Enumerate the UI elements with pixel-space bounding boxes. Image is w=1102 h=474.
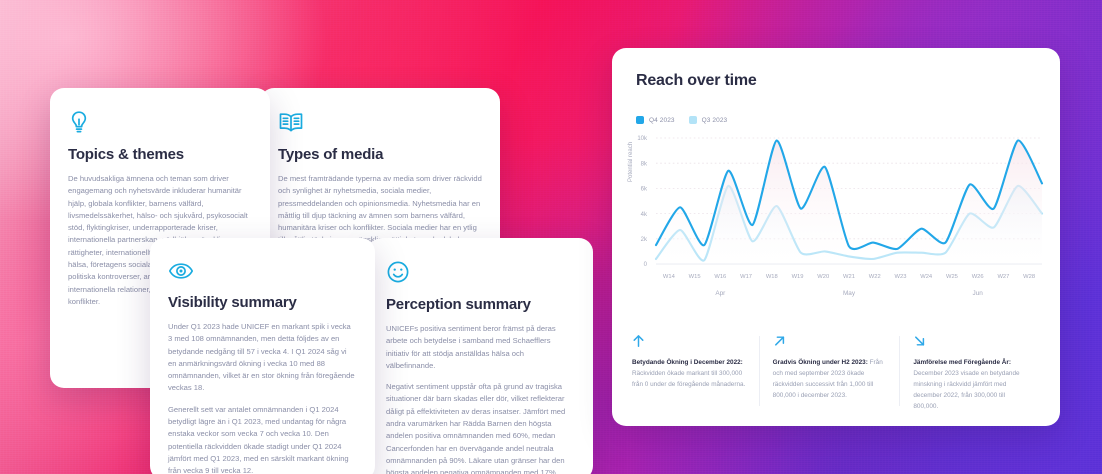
chart-legend: Q4 2023Q3 2023 xyxy=(612,90,1060,124)
legend-label: Q4 2023 xyxy=(649,117,675,124)
legend-item[interactable]: Q3 2023 xyxy=(689,116,728,124)
smiley-icon xyxy=(386,260,575,284)
legend-label: Q3 2023 xyxy=(702,117,728,124)
insight-item: Gradvis Ökning under H2 2023: Från och m… xyxy=(759,334,900,412)
x-axis-month-label: Apr xyxy=(715,290,726,297)
x-axis-tick-label: W15 xyxy=(689,274,701,280)
x-axis-tick-label: W20 xyxy=(817,274,829,280)
arrow-up-right-icon xyxy=(773,334,888,348)
x-axis-tick-label: W26 xyxy=(972,274,984,280)
eye-icon xyxy=(168,260,357,282)
x-axis-tick-label: W17 xyxy=(740,274,752,280)
card-title: Types of media xyxy=(278,146,482,163)
insight-text: Gradvis Ökning under H2 2023: Från och m… xyxy=(773,357,888,401)
x-axis-tick-label: W23 xyxy=(895,274,907,280)
x-axis-tick-label: W16 xyxy=(714,274,726,280)
card-body-paragraph-2: Generellt sett var antalet omnämnanden i… xyxy=(168,404,357,474)
book-icon xyxy=(278,110,482,134)
x-axis-tick-label: W21 xyxy=(843,274,855,280)
x-axis-tick-label: W22 xyxy=(869,274,881,280)
card-reach-over-time: Reach over time Q4 2023Q3 2023 Potential… xyxy=(612,48,1060,426)
insight-text: Betydande Ökning i December 2022: Räckvi… xyxy=(632,357,747,390)
insight-heading: Jämförelse med Föregående År: xyxy=(913,359,1011,366)
x-axis-tick-label: W18 xyxy=(766,274,778,280)
card-title: Perception summary xyxy=(386,296,575,313)
card-title: Visibility summary xyxy=(168,294,357,311)
arrow-down-right-icon xyxy=(913,334,1028,348)
chart-svg: 02k4k6k8k10kW14W15W16W17W18W19W20W21W22W… xyxy=(612,130,1060,308)
card-visibility-summary: Visibility summary Under Q1 2023 hade UN… xyxy=(150,238,375,474)
insight-item: Betydande Ökning i December 2022: Räckvi… xyxy=(632,334,759,412)
legend-swatch xyxy=(689,116,697,124)
x-axis-tick-label: W19 xyxy=(792,274,804,280)
x-axis-tick-label: W14 xyxy=(663,274,676,280)
card-body-paragraph-1: UNICEFs positiva sentiment beror främst … xyxy=(386,323,575,372)
x-axis-month-label: May xyxy=(843,290,856,297)
chart-plot-area: Potential reach 02k4k6k8k10kW14W15W16W17… xyxy=(612,130,1060,308)
card-body-paragraph-2: Negativt sentiment uppstår ofta på grund… xyxy=(386,381,575,474)
legend-item[interactable]: Q4 2023 xyxy=(636,116,675,124)
y-axis-tick-label: 2k xyxy=(641,237,648,243)
y-axis-title: Potential reach xyxy=(628,142,634,182)
card-title: Topics & themes xyxy=(68,146,252,163)
y-axis-tick-label: 4k xyxy=(641,212,648,218)
x-axis-tick-label: W27 xyxy=(997,274,1009,280)
card-perception-summary: Perception summary UNICEFs positiva sent… xyxy=(368,238,593,474)
page-title: Reach over time xyxy=(612,48,1060,90)
y-axis-tick-label: 0 xyxy=(644,262,648,268)
y-axis-tick-label: 10k xyxy=(637,136,648,142)
insight-detail: December 2023 visade en betydande minskn… xyxy=(913,370,1019,410)
insight-heading: Betydande Ökning i December 2022: xyxy=(632,359,743,366)
arrow-up-icon xyxy=(632,334,747,348)
x-axis-tick-label: W25 xyxy=(946,274,958,280)
x-axis-month-label: Jun xyxy=(973,290,984,297)
y-axis-tick-label: 6k xyxy=(641,187,648,193)
insight-heading: Gradvis Ökning under H2 2023: xyxy=(773,359,868,366)
insight-text: Jämförelse med Föregående År: December 2… xyxy=(913,357,1028,412)
insight-item: Jämförelse med Föregående År: December 2… xyxy=(899,334,1040,412)
x-axis-tick-label: W28 xyxy=(1023,274,1035,280)
y-axis-tick-label: 8k xyxy=(641,161,648,167)
insight-detail: Räckvidden ökade markant till 300,000 fr… xyxy=(632,370,745,388)
insight-strip: Betydande Ökning i December 2022: Räckvi… xyxy=(612,334,1060,412)
legend-swatch xyxy=(636,116,644,124)
x-axis-tick-label: W24 xyxy=(920,274,933,280)
lightbulb-icon xyxy=(68,110,252,134)
card-body-paragraph-1: Under Q1 2023 hade UNICEF en markant spi… xyxy=(168,321,357,395)
